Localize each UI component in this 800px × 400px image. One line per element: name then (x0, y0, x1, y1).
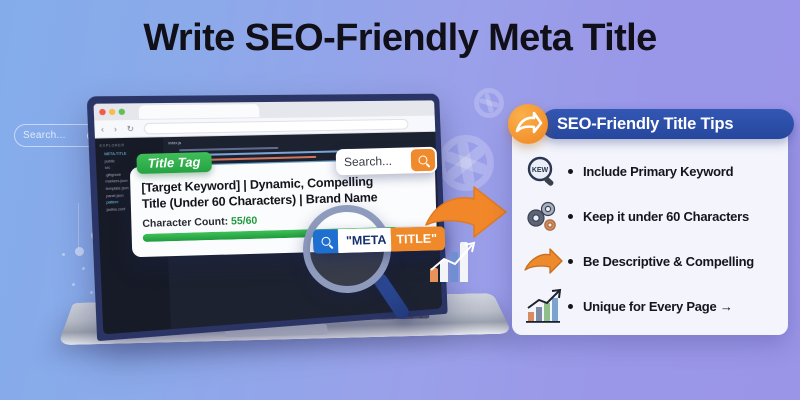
search-input-placeholder[interactable]: Search... (344, 154, 392, 169)
explorer-label: EXPLORER (100, 142, 160, 147)
page-title: Write SEO-Friendly Meta Title (0, 17, 800, 60)
poster-canvas: Search... Write SEO-Friendly Meta Title … (0, 0, 800, 400)
search-button[interactable] (411, 149, 436, 172)
tip-label: Be Descriptive & Compelling (583, 254, 754, 269)
gears-icon (522, 198, 566, 236)
search-icon (313, 229, 339, 254)
window-maximize-button[interactable] (118, 109, 125, 115)
growth-chart-icon (522, 288, 566, 326)
tips-panel: SEO-Friendly Title Tips KEW Include Prim… (512, 123, 788, 335)
title-tag-badge: Title Tag (136, 152, 211, 174)
editor-tab-label[interactable]: index.js (168, 136, 431, 146)
tip-label: Keep it under 60 Characters (583, 209, 749, 224)
code-line (179, 147, 278, 152)
share-arrow-badge-icon (508, 104, 548, 144)
search-pill[interactable]: Search... (336, 147, 438, 176)
window-minimize-button[interactable] (109, 109, 116, 115)
tip-item[interactable]: Keep it under 60 Characters (522, 194, 778, 239)
search-icon (418, 155, 427, 164)
forward-icon[interactable]: › (114, 125, 122, 132)
orange-arrow-icon (522, 243, 566, 281)
tip-label: Unique for Every Page → (583, 299, 733, 314)
tip-item[interactable]: Be Descriptive & Compelling (522, 239, 778, 284)
bullet-dot (568, 169, 573, 174)
meta-badge-prefix: "META (338, 228, 392, 253)
bullet-dot (568, 259, 573, 264)
character-count-label: Character Count: (142, 216, 228, 230)
browser-tab[interactable] (139, 104, 260, 119)
tip-item[interactable]: Unique for Every Page → (522, 284, 778, 329)
back-icon[interactable]: ‹ (101, 126, 109, 133)
tip-item[interactable]: KEW Include Primary Keyword (522, 149, 778, 194)
bullet-dot (568, 304, 573, 309)
window-close-button[interactable] (99, 109, 106, 115)
svg-text:KEW: KEW (532, 167, 549, 174)
orange-pointer-arrow-icon (424, 185, 508, 247)
tips-panel-header: SEO-Friendly Title Tips (541, 109, 794, 139)
tip-label: Include Primary Keyword (583, 164, 733, 179)
background-search-placeholder: Search... (23, 130, 66, 141)
character-count-value: 55/60 (231, 215, 258, 228)
keyword-magnifier-icon: KEW (522, 153, 566, 191)
tips-panel-title: SEO-Friendly Title Tips (557, 115, 733, 134)
reload-icon[interactable]: ↻ (127, 125, 135, 132)
bullet-dot (568, 214, 573, 219)
